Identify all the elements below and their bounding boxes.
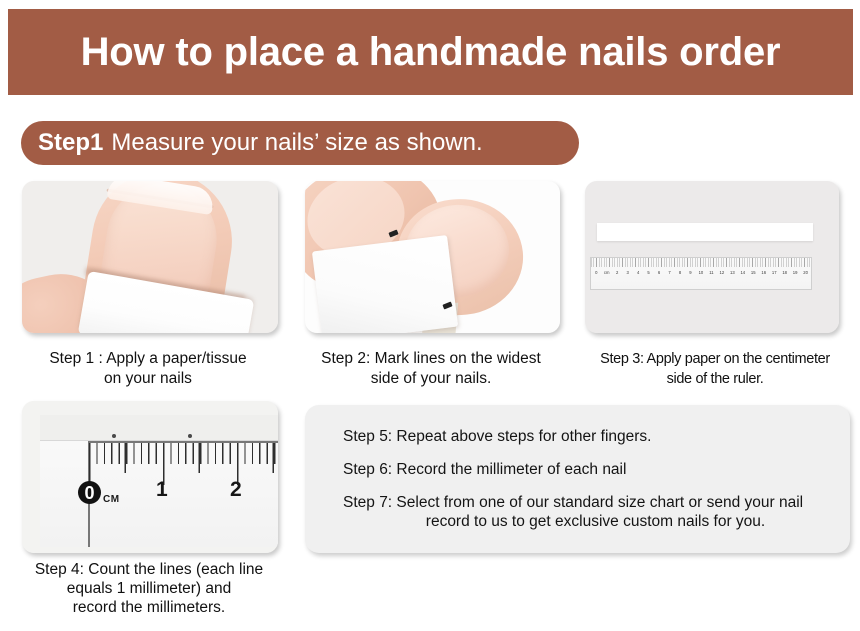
long-ruler: 0 cm 2 3 4 5 6 7 8 9 10 11 12 13 14 15 1… — [590, 257, 812, 290]
page-title: How to place a handmade nails order — [81, 30, 781, 75]
caption-step-2: Step 2: Mark lines on the widest side of… — [296, 349, 566, 389]
ruler-mark-1: 1 — [156, 479, 168, 500]
step-7-line-2: record to us to get exclusive custom nai… — [343, 512, 830, 531]
header-band: How to place a handmade nails order — [8, 9, 853, 95]
ruler-number: 2 — [612, 268, 622, 278]
caption-line: Step 1 : Apply a paper/tissue — [6, 349, 290, 369]
ruler-number: 12 — [717, 268, 727, 278]
ruler-tick-marks — [591, 258, 811, 267]
reference-dot-left — [112, 434, 116, 438]
ruler-number: 20 — [800, 268, 810, 278]
photo-ruler-paper: 0 cm 2 3 4 5 6 7 8 9 10 11 12 13 14 15 1… — [585, 181, 839, 333]
photo-apply-paper — [22, 181, 278, 333]
caption-line: on your nails — [6, 369, 290, 389]
centimeter-ticks — [89, 443, 276, 485]
caption-line: side of your nails. — [296, 369, 566, 389]
photo-mark-lines — [305, 181, 560, 333]
ruler-number: cm — [601, 268, 611, 278]
ruler-number: 7 — [664, 268, 674, 278]
reference-dot-right — [188, 434, 192, 438]
ruler-number: 6 — [654, 268, 664, 278]
paper-strip — [597, 223, 813, 241]
caption-line: Step 2: Mark lines on the widest — [296, 349, 566, 369]
ruler-number: 5 — [643, 268, 653, 278]
ruler-number: 13 — [727, 268, 737, 278]
steps-5-to-7-box: Step 5: Repeat above steps for other fin… — [305, 405, 850, 553]
ruler-number: 9 — [685, 268, 695, 278]
step1-banner: Step1 Measure your nails’ size as shown. — [21, 121, 579, 165]
caption-line: side of the ruler. — [574, 369, 856, 389]
ruler-number: 3 — [622, 268, 632, 278]
step-7-line-1: Step 7: Select from one of our standard … — [343, 494, 803, 511]
step-5-text: Step 5: Repeat above steps for other fin… — [325, 427, 830, 446]
ruler-body: 0 CM 1 2 3 — [40, 415, 278, 547]
zero-marker: 0 — [78, 481, 101, 504]
ruler-mark-2: 2 — [230, 479, 242, 500]
cm-unit-label: CM — [103, 494, 120, 505]
ruler-number: 17 — [769, 268, 779, 278]
ruler-number: 14 — [738, 268, 748, 278]
ruler-number: 18 — [779, 268, 789, 278]
caption-step-4: Step 4: Count the lines (each line equal… — [4, 560, 294, 617]
caption-line: Step 3: Apply paper on the centimeter — [574, 349, 856, 369]
ruler-number: 8 — [675, 268, 685, 278]
ruler-top-band — [40, 415, 278, 441]
ruler-number: 11 — [706, 268, 716, 278]
ruler-number: 0 — [591, 268, 601, 278]
step-6-text: Step 6: Record the millimeter of each na… — [325, 460, 830, 479]
zero-label: 0 — [84, 484, 94, 502]
caption-step-3: Step 3: Apply paper on the centimeter si… — [574, 349, 856, 389]
ruler-number-row: 0 cm 2 3 4 5 6 7 8 9 10 11 12 13 14 15 1… — [591, 268, 811, 278]
ruler-number: 15 — [748, 268, 758, 278]
caption-line: Step 4: Count the lines (each line — [4, 560, 294, 579]
instruction-infographic: How to place a handmade nails order Step… — [0, 0, 860, 631]
caption-line: equals 1 millimeter) and — [4, 579, 294, 598]
step1-instruction: Measure your nails’ size as shown. — [111, 129, 482, 157]
ruler-number: 4 — [633, 268, 643, 278]
caption-step-1: Step 1 : Apply a paper/tissue on your na… — [6, 349, 290, 389]
photo-ruler-closeup: 0 CM 1 2 3 — [22, 401, 278, 553]
ruler-number: 10 — [696, 268, 706, 278]
step1-label: Step1 — [38, 129, 103, 157]
step-7-text: Step 7: Select from one of our standard … — [325, 493, 830, 531]
ruler-number: 16 — [759, 268, 769, 278]
ruler-number: 19 — [790, 268, 800, 278]
caption-line: record the millimeters. — [4, 598, 294, 617]
paper-strip — [312, 235, 458, 333]
